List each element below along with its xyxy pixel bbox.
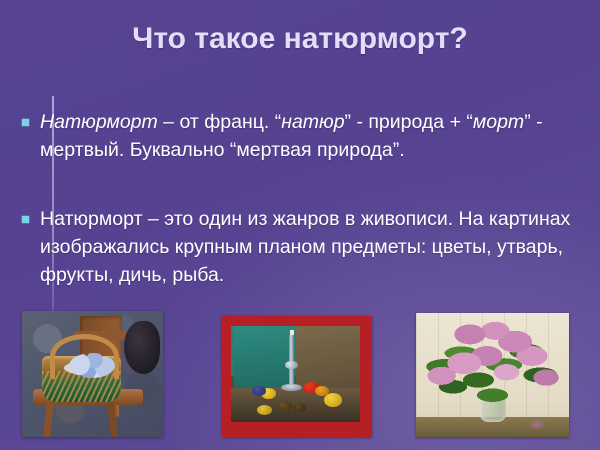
bullet-1-seg-2: натюр bbox=[281, 111, 344, 133]
square-bullet-icon bbox=[22, 119, 29, 126]
fruit-yellow-right bbox=[324, 393, 342, 407]
slide-canvas: Что такое натюрморт? Натюрморт – от фран… bbox=[0, 0, 600, 450]
picture-frame-basket-of-flowers bbox=[22, 311, 163, 437]
candlestick-knob bbox=[285, 361, 298, 370]
teal-drape bbox=[234, 326, 296, 390]
fallen-lilac-sprig bbox=[523, 417, 551, 432]
fruit-brown-center bbox=[277, 401, 291, 411]
bullet-1-seg-4: морт bbox=[473, 111, 524, 133]
still-life-basket-of-flowers-on-chair bbox=[22, 311, 163, 437]
fruit-blue-plum bbox=[252, 386, 266, 397]
bullet-text-2: Натюрморт – это один из жанров в живопис… bbox=[40, 205, 590, 289]
bullet-text-1: Натюрморт – от франц. “натюр” - природа … bbox=[40, 108, 590, 164]
fruit-brown-right bbox=[293, 403, 306, 412]
bullet-1-seg-0: Натюрморт bbox=[40, 111, 158, 133]
still-life-lilacs-in-vase bbox=[416, 313, 569, 437]
brown-wall bbox=[296, 326, 361, 390]
page-title: Что такое натюрморт? bbox=[0, 22, 600, 56]
picture-frame-candlestick-with-fruit bbox=[222, 316, 372, 437]
still-life-candlestick-with-fruit bbox=[222, 316, 372, 437]
blue-flowers bbox=[69, 353, 116, 378]
lilac-blossoms bbox=[422, 320, 563, 409]
square-bullet-icon bbox=[22, 216, 29, 223]
dark-hat bbox=[124, 321, 161, 374]
bullet-item-1: Натюрморт – от франц. “натюр” - природа … bbox=[0, 108, 594, 164]
bullet-1-seg-3: ” - природа + “ bbox=[345, 111, 473, 133]
painting-inner-area bbox=[231, 326, 360, 423]
bullet-1-seg-1: – от франц. “ bbox=[158, 111, 281, 133]
fruit-yellow-bottom bbox=[257, 405, 272, 415]
bullet-item-2: Натюрморт – это один из жанров в живопис… bbox=[0, 205, 594, 289]
bullet-2-seg-0: Натюрморт – это один из жанров в живопис… bbox=[40, 208, 570, 286]
picture-frame-lilacs-in-vase bbox=[416, 313, 569, 437]
